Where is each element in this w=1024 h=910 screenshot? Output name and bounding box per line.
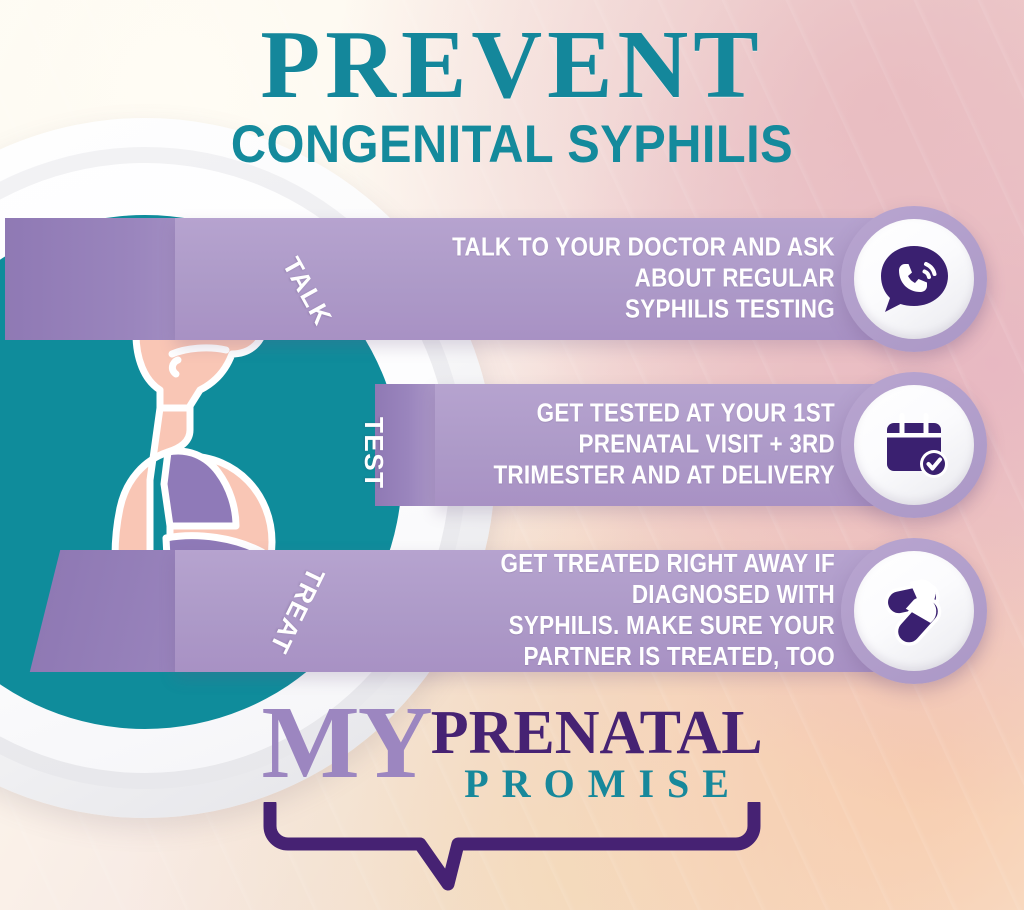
step-text-treat: GET TREATED RIGHT AWAY IF DIAGNOSED WITH… [365,549,835,673]
step-badge-talk[interactable] [841,206,987,352]
pills-capsules-icon [874,571,954,651]
logo-prenatal-text: PRENATAL [431,706,763,762]
phone-speech-bubble-icon [874,239,954,319]
step-text-test: GET TESTED AT YOUR 1ST PRENATAL VISIT + … [365,398,835,491]
logo-promise-text: PROMISE [431,764,763,804]
step-bar-test[interactable]: GET TESTED AT YOUR 1ST PRENATAL VISIT + … [175,384,985,506]
step-text-talk: TALK TO YOUR DOCTOR AND ASK ABOUT REGULA… [365,232,835,325]
page-title: PREVENT [0,18,1024,112]
step-badge-test[interactable] [841,372,987,518]
step-text-line1: GET TESTED AT YOUR 1ST PRENATAL VISIT + … [421,398,835,460]
brand-logo: MY PRENATAL PROMISE [0,698,1024,892]
logo-my-text: MY [261,698,430,787]
step-badge-inner-treat [854,551,974,671]
step-label-test: TEST [358,417,389,489]
speech-bubble-bracket-icon [262,802,762,892]
step-text-line2: SYPHILIS. MAKE SURE YOUR PARTNER IS TREA… [421,611,835,673]
step-text-line1: TALK TO YOUR DOCTOR AND ASK ABOUT REGULA… [421,232,835,294]
poster-title-block: PREVENT CONGENITAL SYPHILIS [0,18,1024,171]
brand-logo-wordmark: MY PRENATAL PROMISE [0,698,1024,804]
step-badge-inner-test [854,385,974,505]
calendar-check-icon [874,405,954,485]
step-text-line2: TRIMESTER AND AT DELIVERY [421,461,835,492]
step-badge-inner-talk [854,219,974,339]
logo-right-stack: PRENATAL PROMISE [431,698,763,804]
page-subtitle: CONGENITAL SYPHILIS [41,118,983,171]
step-badge-treat[interactable] [841,538,987,684]
step-text-line1: GET TREATED RIGHT AWAY IF DIAGNOSED WITH [421,549,835,611]
step-text-line2: SYPHILIS TESTING [421,295,835,326]
infographic-poster: PREVENT CONGENITAL SYPHILIS TALK TO Y [0,0,1024,910]
